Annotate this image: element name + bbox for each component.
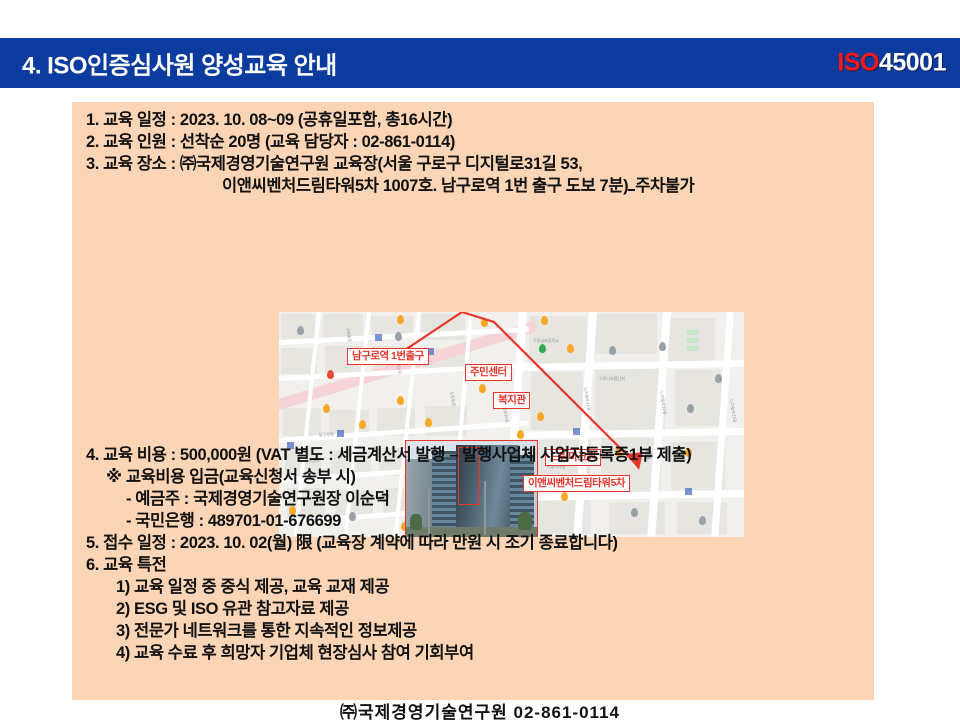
- venue-address-text: 이앤씨벤처드림타워5차 1007호. 남구로역 1번 출구 도보 7분): [222, 177, 628, 195]
- info-line-benefit-2: 2) ESG 및 ISO 유관 참고자료 제공: [72, 601, 874, 618]
- iso-logo-number-text: 45001: [879, 49, 946, 77]
- info-line-venue: 3. 교육 장소 : ㈜국제경영기술연구원 교육장(서울 구로구 디지털로31길…: [72, 156, 874, 173]
- iso-logo-iso-text: ISO: [837, 49, 879, 77]
- info-line-schedule: 1. 교육 일정 : 2023. 10. 08~09 (공휴일포함, 총16시간…: [72, 112, 874, 129]
- info-line-benefit-1: 1) 교육 일정 중 중식 제공, 교육 교재 제공: [72, 579, 874, 596]
- info-line-payment-note: ※ 교육비용 입금(교육신청서 송부 시): [72, 469, 874, 486]
- info-line-benefit-3: 3) 전문가 네트워크를 통한 지속적인 정보제공: [72, 623, 874, 640]
- content-panel: 1. 교육 일정 : 2023. 10. 08~09 (공휴일포함, 총16시간…: [72, 102, 874, 700]
- page-title: 4. ISO인증심사원 양성교육 안내: [22, 46, 337, 81]
- info-line-benefit-4: 4) 교육 수료 후 희망자 기업체 현장심사 참여 기회부여: [72, 645, 874, 662]
- info-line-deadline: 5. 접수 일정 : 2023. 10. 02(월) 限 (교육장 계약에 따라…: [72, 535, 874, 552]
- footer-contact: ㈜국제경영기술연구원 02-861-0114: [0, 698, 960, 723]
- info-line-benefits-title: 6. 교육 특전: [72, 557, 874, 574]
- iso-45001-logo: ISO45001: [837, 49, 946, 78]
- map-label-welfare-center: 복지관: [493, 392, 530, 409]
- info-line-capacity: 2. 교육 인원 : 선착순 20명 (교육 담당자 : 02-861-0114…: [72, 134, 874, 151]
- info-line-fee: 4. 교육 비용 : 500,000원 (VAT 별도 : 세금계산서 발행 –…: [72, 447, 874, 464]
- map-label-station: 남구로역 1번출구: [347, 348, 429, 365]
- info-line-bank-account: - 국민은행 : 489701-01-676699: [72, 513, 874, 530]
- header-bar: 4. ISO인증심사원 양성교육 안내 ISO45001: [0, 38, 960, 88]
- map-label-community-center: 주민센터: [465, 364, 512, 381]
- info-line-account-holder: - 예금주 : 국제경영기술연구원장 이순덕: [72, 491, 874, 508]
- no-parking-text: 주차불가: [635, 177, 694, 195]
- info-line-venue-cont: 이앤씨벤처드림타워5차 1007호. 남구로역 1번 출구 도보 7분)주차불가: [72, 178, 874, 195]
